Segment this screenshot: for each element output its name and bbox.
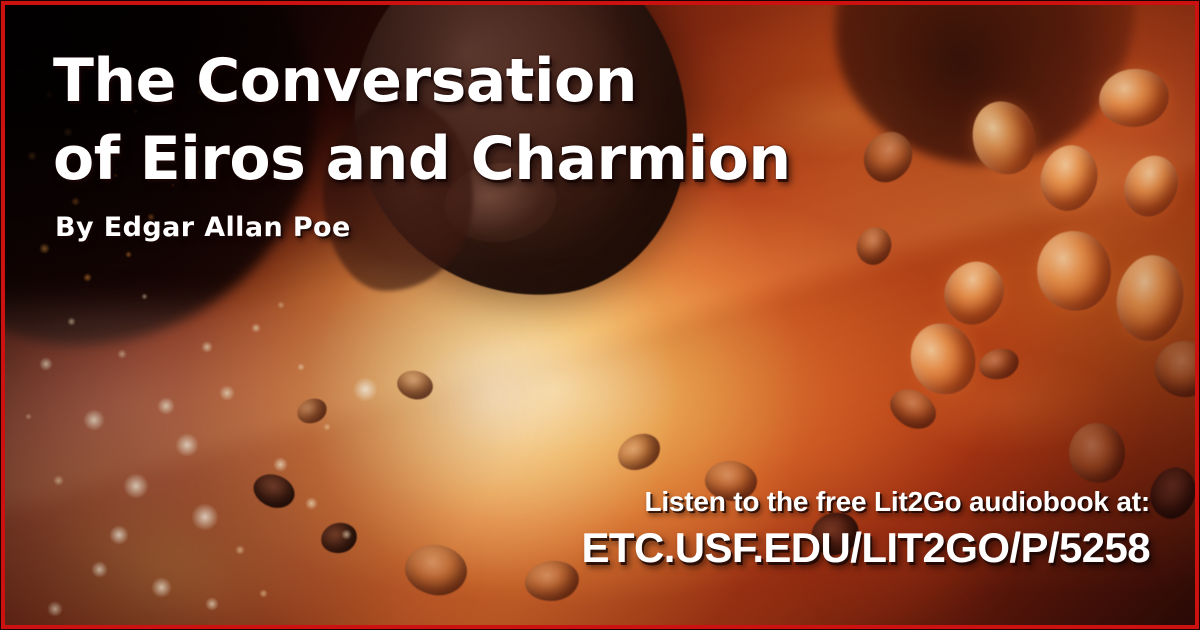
call-to-action-block: Listen to the free Lit2Go audiobook at: …: [582, 486, 1151, 572]
title-line-2: of Eiros and Charmion: [53, 120, 1153, 198]
cover-text-layer: The Conversation of Eiros and Charmion B…: [0, 0, 1200, 630]
author-byline: By Edgar Allan Poe: [55, 212, 1153, 243]
title-line-1: The Conversation: [53, 42, 1153, 120]
title-block: The Conversation of Eiros and Charmion B…: [53, 42, 1153, 243]
audiobook-cover-card: The Conversation of Eiros and Charmion B…: [0, 0, 1200, 630]
cta-prompt: Listen to the free Lit2Go audiobook at:: [582, 486, 1151, 518]
cta-url[interactable]: ETC.USF.EDU/LIT2GO/P/5258: [582, 524, 1151, 572]
